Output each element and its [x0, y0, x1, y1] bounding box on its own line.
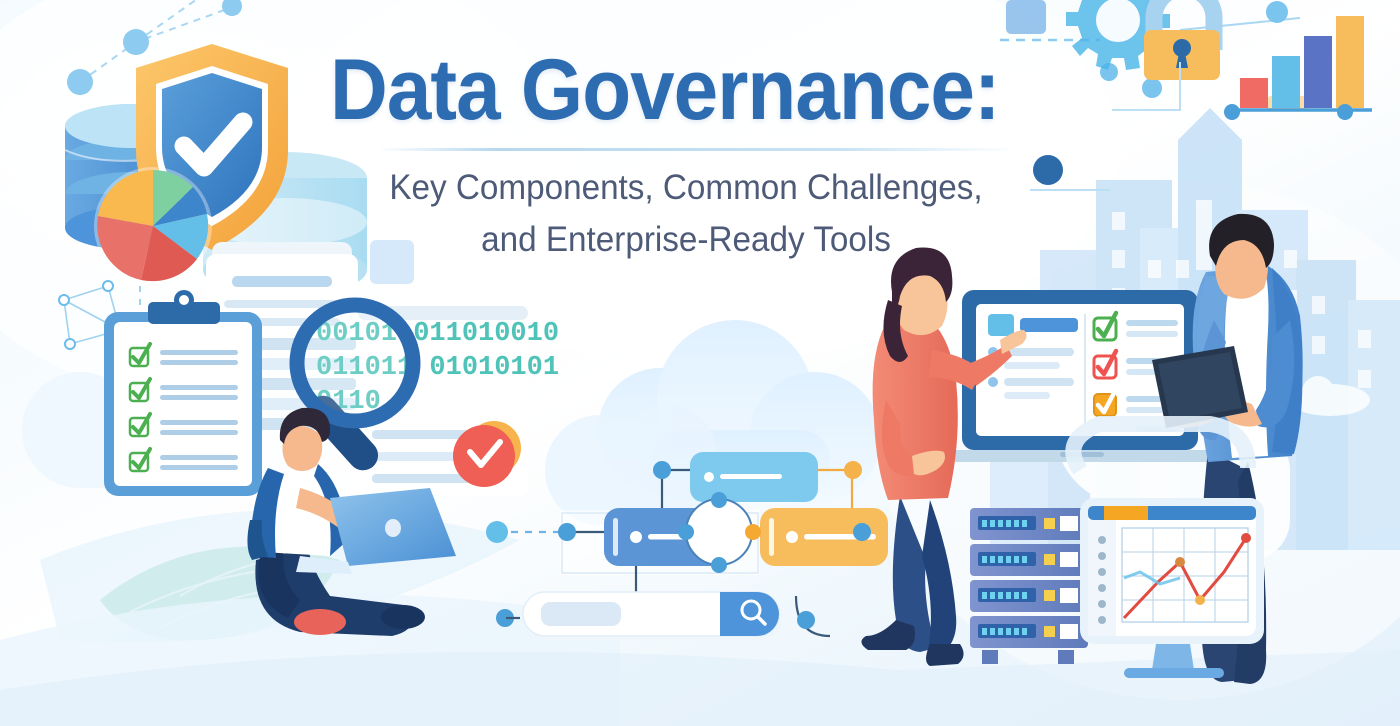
- bar-3: [1304, 36, 1332, 108]
- data-governance-banner: Data Governance: Key Components, Common …: [0, 0, 1400, 726]
- bar-1: [1240, 78, 1268, 108]
- server-rack: [970, 508, 1088, 664]
- bar-2: [1272, 56, 1300, 108]
- bar-4: [1336, 16, 1364, 108]
- padlock-icon: [1144, 0, 1220, 80]
- right-illustration-cluster: [0, 0, 1400, 726]
